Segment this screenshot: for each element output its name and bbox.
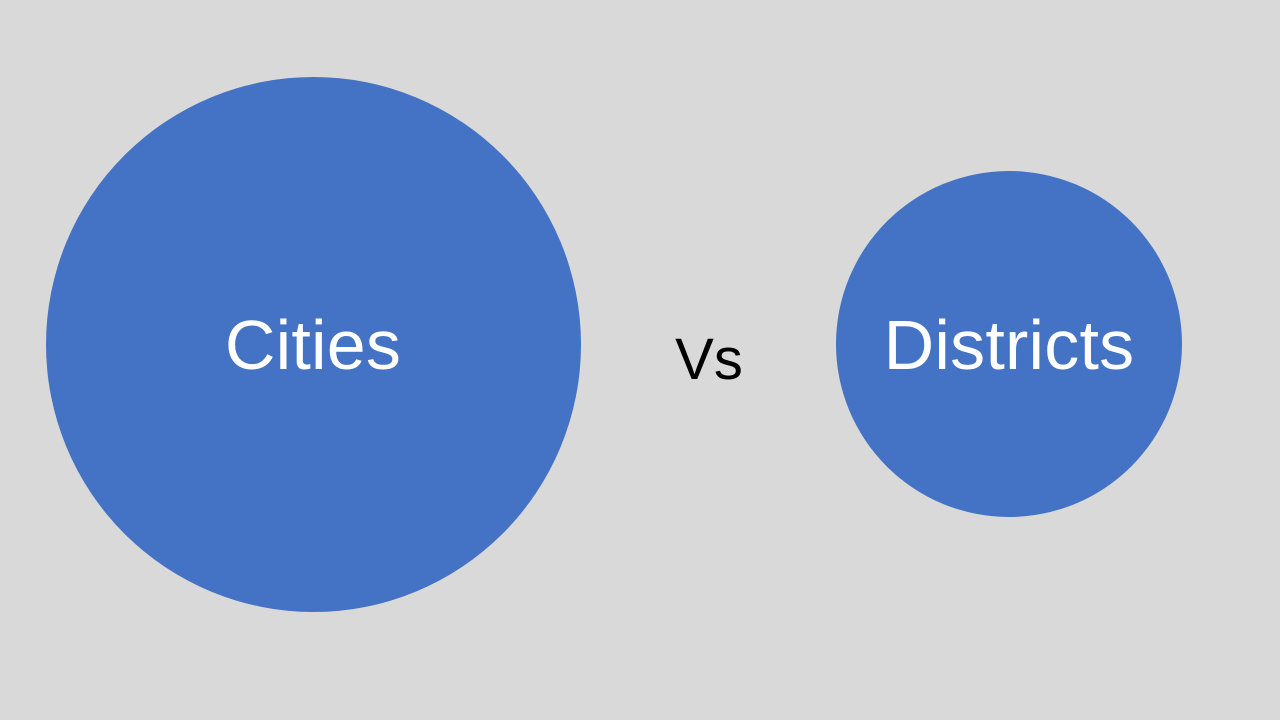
bubble-cities-label: Cities: [225, 310, 401, 380]
slide-canvas: Cities Vs Districts: [0, 0, 1280, 720]
bubble-districts-label: Districts: [884, 310, 1135, 380]
bubble-districts[interactable]: Districts: [836, 171, 1182, 517]
versus-separator-label: Vs: [639, 322, 779, 398]
bubble-cities[interactable]: Cities: [46, 77, 581, 612]
